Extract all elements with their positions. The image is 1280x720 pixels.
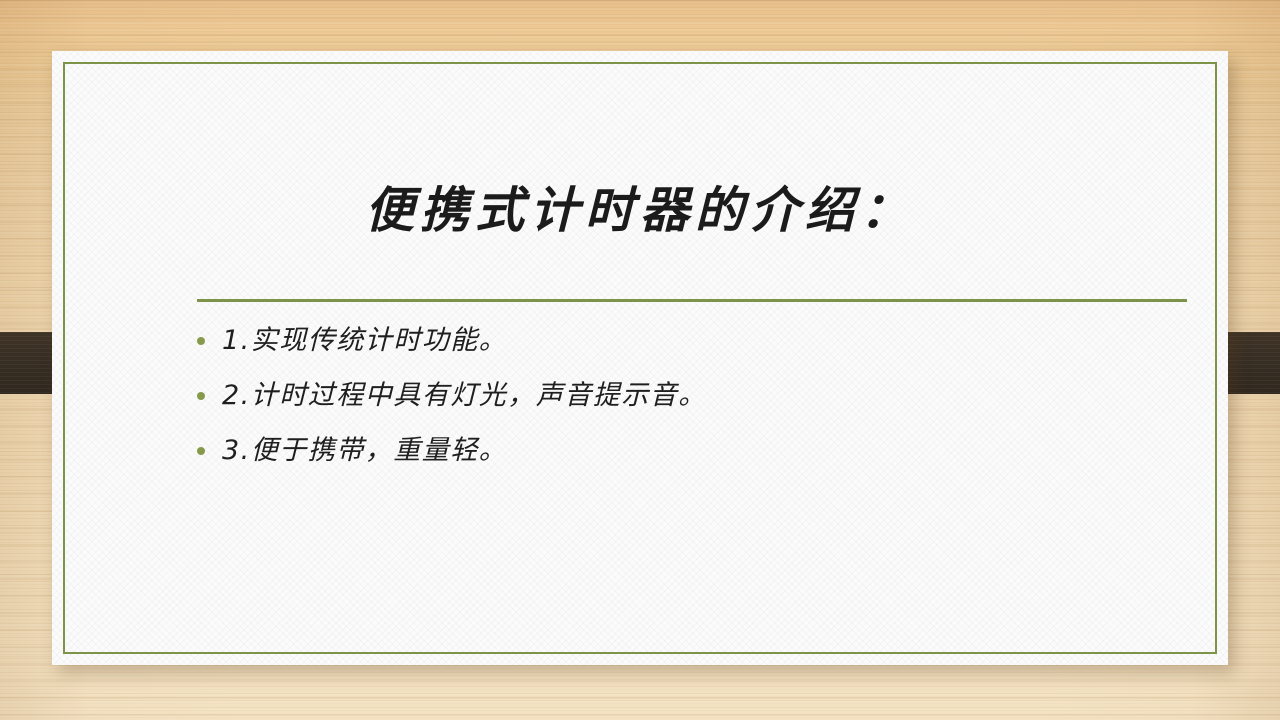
slide-title: 便携式计时器的介绍： [115, 179, 1165, 243]
list-item-label: 3.便于携带，重量轻。 [222, 435, 507, 466]
title-divider-rule [197, 299, 1187, 302]
bullet-list: 1.实现传统计时功能。 2.计时过程中具有灯光，声音提示音。 3.便于携带，重量… [194, 323, 1194, 488]
list-item-label: 1.实现传统计时功能。 [222, 325, 507, 356]
list-item: 2.计时过程中具有灯光，声音提示音。 [194, 378, 1194, 413]
bullet-dot-icon [197, 392, 205, 400]
list-item-label: 2.计时过程中具有灯光，声音提示音。 [222, 380, 707, 411]
slide-content: 便携式计时器的介绍： 1.实现传统计时功能。 2.计时过程中具有灯光，声音提示音… [52, 51, 1228, 665]
presentation-slide: 便携式计时器的介绍： 1.实现传统计时功能。 2.计时过程中具有灯光，声音提示音… [0, 0, 1280, 720]
slide-card: 便携式计时器的介绍： 1.实现传统计时功能。 2.计时过程中具有灯光，声音提示音… [52, 51, 1228, 665]
list-item: 3.便于携带，重量轻。 [194, 433, 1194, 468]
bullet-dot-icon [197, 447, 205, 455]
bullet-dot-icon [197, 337, 205, 345]
list-item: 1.实现传统计时功能。 [194, 323, 1194, 358]
